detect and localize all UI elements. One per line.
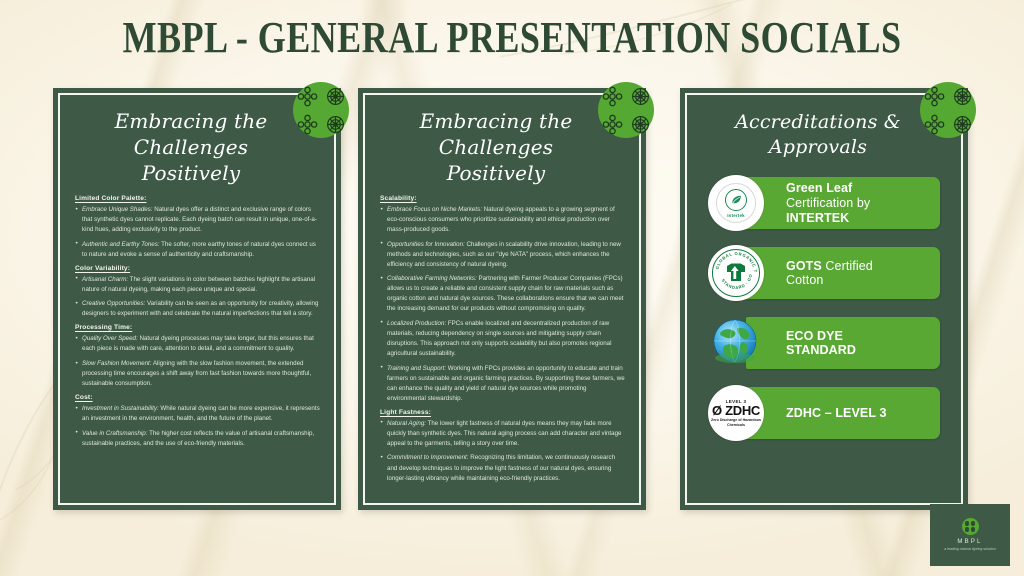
intertek-wordmark: Intertek (727, 213, 744, 218)
bullet-item: Natural Aging: The lower light fastness … (380, 419, 625, 449)
badge-title: ZDHC – LEVEL 3 (786, 406, 887, 421)
badge-issuer: INTERTEK (786, 211, 849, 225)
svg-text:STANDARD - GOTS -: STANDARD - GOTS - (709, 246, 753, 290)
bullet-item: Localized Production: FPCs enable locali… (380, 319, 625, 359)
badge-title: ECO DYE (786, 329, 843, 343)
bullet-item: Slow Fashion Movement: Aligning with the… (75, 359, 320, 389)
badge-row-intertek[interactable]: Green Leaf Certification by INTERTEK (708, 175, 944, 231)
panel-accreditations: Accreditations & Approvals Green Leaf Ce… (680, 88, 968, 510)
bullet-item: Embrace Focus on Niche Markets: Natural … (380, 205, 625, 235)
bullet-item: Value in Craftsmanship: The higher cost … (75, 429, 320, 449)
zdhc-seal-icon: LEVEL 3 Ø ZDHC Zero Discharge of Hazardo… (708, 385, 764, 441)
svg-text:GLOBAL ORGANIC TEXTILE: GLOBAL ORGANIC TEXTILE (709, 246, 758, 273)
badge-label-gots: GOTS Certified Cotton (746, 247, 940, 299)
bullet-item: Commitment to Improvement: Recognizing t… (380, 453, 625, 483)
bullet-lead: Embrace Focus on Niche Markets: (387, 206, 482, 213)
panel-heading-line2: Challenges Positively (390, 134, 602, 186)
panel-body: Limited Color Palette:Embrace Unique Sha… (71, 195, 323, 449)
panel-heading: Embracing the Challenges Positively (71, 104, 323, 186)
badge-row-zdhc[interactable]: ZDHC – LEVEL 3 LEVEL 3 Ø ZDHC Zero Disch… (708, 385, 944, 441)
panel-heading-line1: Accreditations & (712, 110, 924, 135)
bullet-item: Opportunities for Innovation: Challenges… (380, 240, 625, 270)
bullet-list: Quality Over Speed: Natural dyeing proce… (75, 334, 320, 389)
floral-motif-icon (920, 82, 976, 138)
logo-name: MBPL (957, 539, 982, 545)
accreditation-badge-list: Green Leaf Certification by INTERTEK (698, 175, 950, 441)
badge-row-gots[interactable]: GOTS Certified Cotton GLOBAL ORGANIC TEX… (708, 245, 944, 301)
bullet-lead: Artisanal Charm: (82, 276, 128, 283)
bullet-lead: Authentic and Earthy Tones: (82, 241, 160, 248)
tshirt-arrows-icon (727, 264, 745, 282)
bullet-item: Authentic and Earthy Tones: The softer, … (75, 240, 320, 260)
bullet-list: Embrace Unique Shades: Natural dyes offe… (75, 205, 320, 260)
badge-label-eco-dye: ECO DYE STANDARD (746, 317, 940, 369)
panel-heading-line2: Challenges Positively (85, 134, 297, 186)
floral-motif-icon (293, 82, 349, 138)
bullet-list: Natural Aging: The lower light fastness … (380, 419, 625, 484)
bullet-lead: Collaborative Farming Networks: (387, 275, 477, 282)
bullet-lead: Slow Fashion Movement: (82, 360, 151, 367)
panel-heading: Embracing the Challenges Positively (376, 104, 628, 186)
floral-motif-icon (598, 82, 654, 138)
bullet-lead: Quality Over Speed: (82, 335, 138, 342)
badge-label-intertek: Green Leaf Certification by INTERTEK (746, 177, 940, 229)
bullet-item: Collaborative Farming Networks: Partneri… (380, 274, 625, 314)
bullet-lead: Localized Production: (387, 320, 446, 327)
panel-heading: Accreditations & Approvals (698, 104, 950, 159)
badge-subtitle: Certified (822, 259, 873, 273)
bullet-lead: Investment in Sustainability: (82, 405, 159, 412)
bullet-lead: Value in Craftsmanship: (82, 430, 147, 437)
panel-challenges-part2: Embracing the Challenges Positively Scal… (358, 88, 646, 510)
section-heading: Color Variability: (75, 265, 320, 272)
zdhc-wordmark: Ø ZDHC (712, 404, 760, 417)
bullet-list: Embrace Focus on Niche Markets: Natural … (380, 205, 625, 404)
bullet-lead: Creative Opportunities: (82, 300, 145, 307)
panel-challenges-part1: Embracing the Challenges Positively Limi… (53, 88, 341, 510)
company-logo: MBPL a leading natural dyeing solution (930, 504, 1010, 566)
bullet-item: Creative Opportunities: Variability can … (75, 299, 320, 319)
bullet-item: Embrace Unique Shades: Natural dyes offe… (75, 205, 320, 235)
bullet-item: Quality Over Speed: Natural dyeing proce… (75, 334, 320, 354)
badge-issuer: STANDARD (786, 343, 856, 357)
badge-title: GOTS (786, 259, 822, 273)
bullet-item: Training and Support: Working with FPCs … (380, 364, 625, 404)
leaf-icon (730, 193, 743, 206)
gots-seal-icon: GLOBAL ORGANIC TEXTILE STANDARD - GOTS - (708, 245, 764, 301)
panel-heading-line1: Embracing the (85, 108, 297, 134)
bullet-lead: Opportunities for Innovation: (387, 241, 465, 248)
section-heading: Processing Time: (75, 324, 320, 331)
badge-row-eco-dye[interactable]: ECO DYE STANDARD (708, 315, 944, 371)
bullet-list: Artisanal Charm: The slight variations i… (75, 275, 320, 320)
bullet-lead: Embrace Unique Shades: (82, 206, 153, 213)
bullet-item: Investment in Sustainability: While natu… (75, 404, 320, 424)
bullet-item: Artisanal Charm: The slight variations i… (75, 275, 320, 295)
intertek-seal-icon: Intertek (708, 175, 764, 231)
page-title: MBPL - GENERAL PRESENTATION SOCIALS (92, 12, 932, 63)
section-heading: Limited Color Palette: (75, 195, 320, 202)
section-heading: Cost: (75, 394, 320, 401)
bullet-lead: Training and Support: (387, 365, 446, 372)
bullet-list: Investment in Sustainability: While natu… (75, 404, 320, 449)
badge-title: Green Leaf (786, 181, 852, 195)
gots-circular-text: GLOBAL ORGANIC TEXTILE STANDARD - GOTS - (709, 246, 763, 300)
bullet-lead: Commitment to Improvement: (387, 454, 469, 461)
mbpl-mark-icon (962, 518, 979, 535)
panel-body: Scalability:Embrace Focus on Niche Marke… (376, 195, 628, 484)
badge-issuer: Cotton (786, 273, 823, 287)
logo-tagline: a leading natural dyeing solution (944, 547, 996, 552)
badge-label-zdhc: ZDHC – LEVEL 3 (746, 387, 940, 439)
panel-heading-line2: Approvals (712, 135, 924, 160)
badge-subtitle: Certification by (786, 196, 870, 210)
section-heading: Scalability: (380, 195, 625, 202)
panel-heading-line1: Embracing the (390, 108, 602, 134)
bullet-lead: Natural Aging: (387, 420, 426, 427)
zdhc-caption: Zero Discharge of Hazardous Chemicals (708, 418, 764, 427)
section-heading: Light Fastness: (380, 409, 625, 416)
globe-icon (708, 315, 764, 371)
